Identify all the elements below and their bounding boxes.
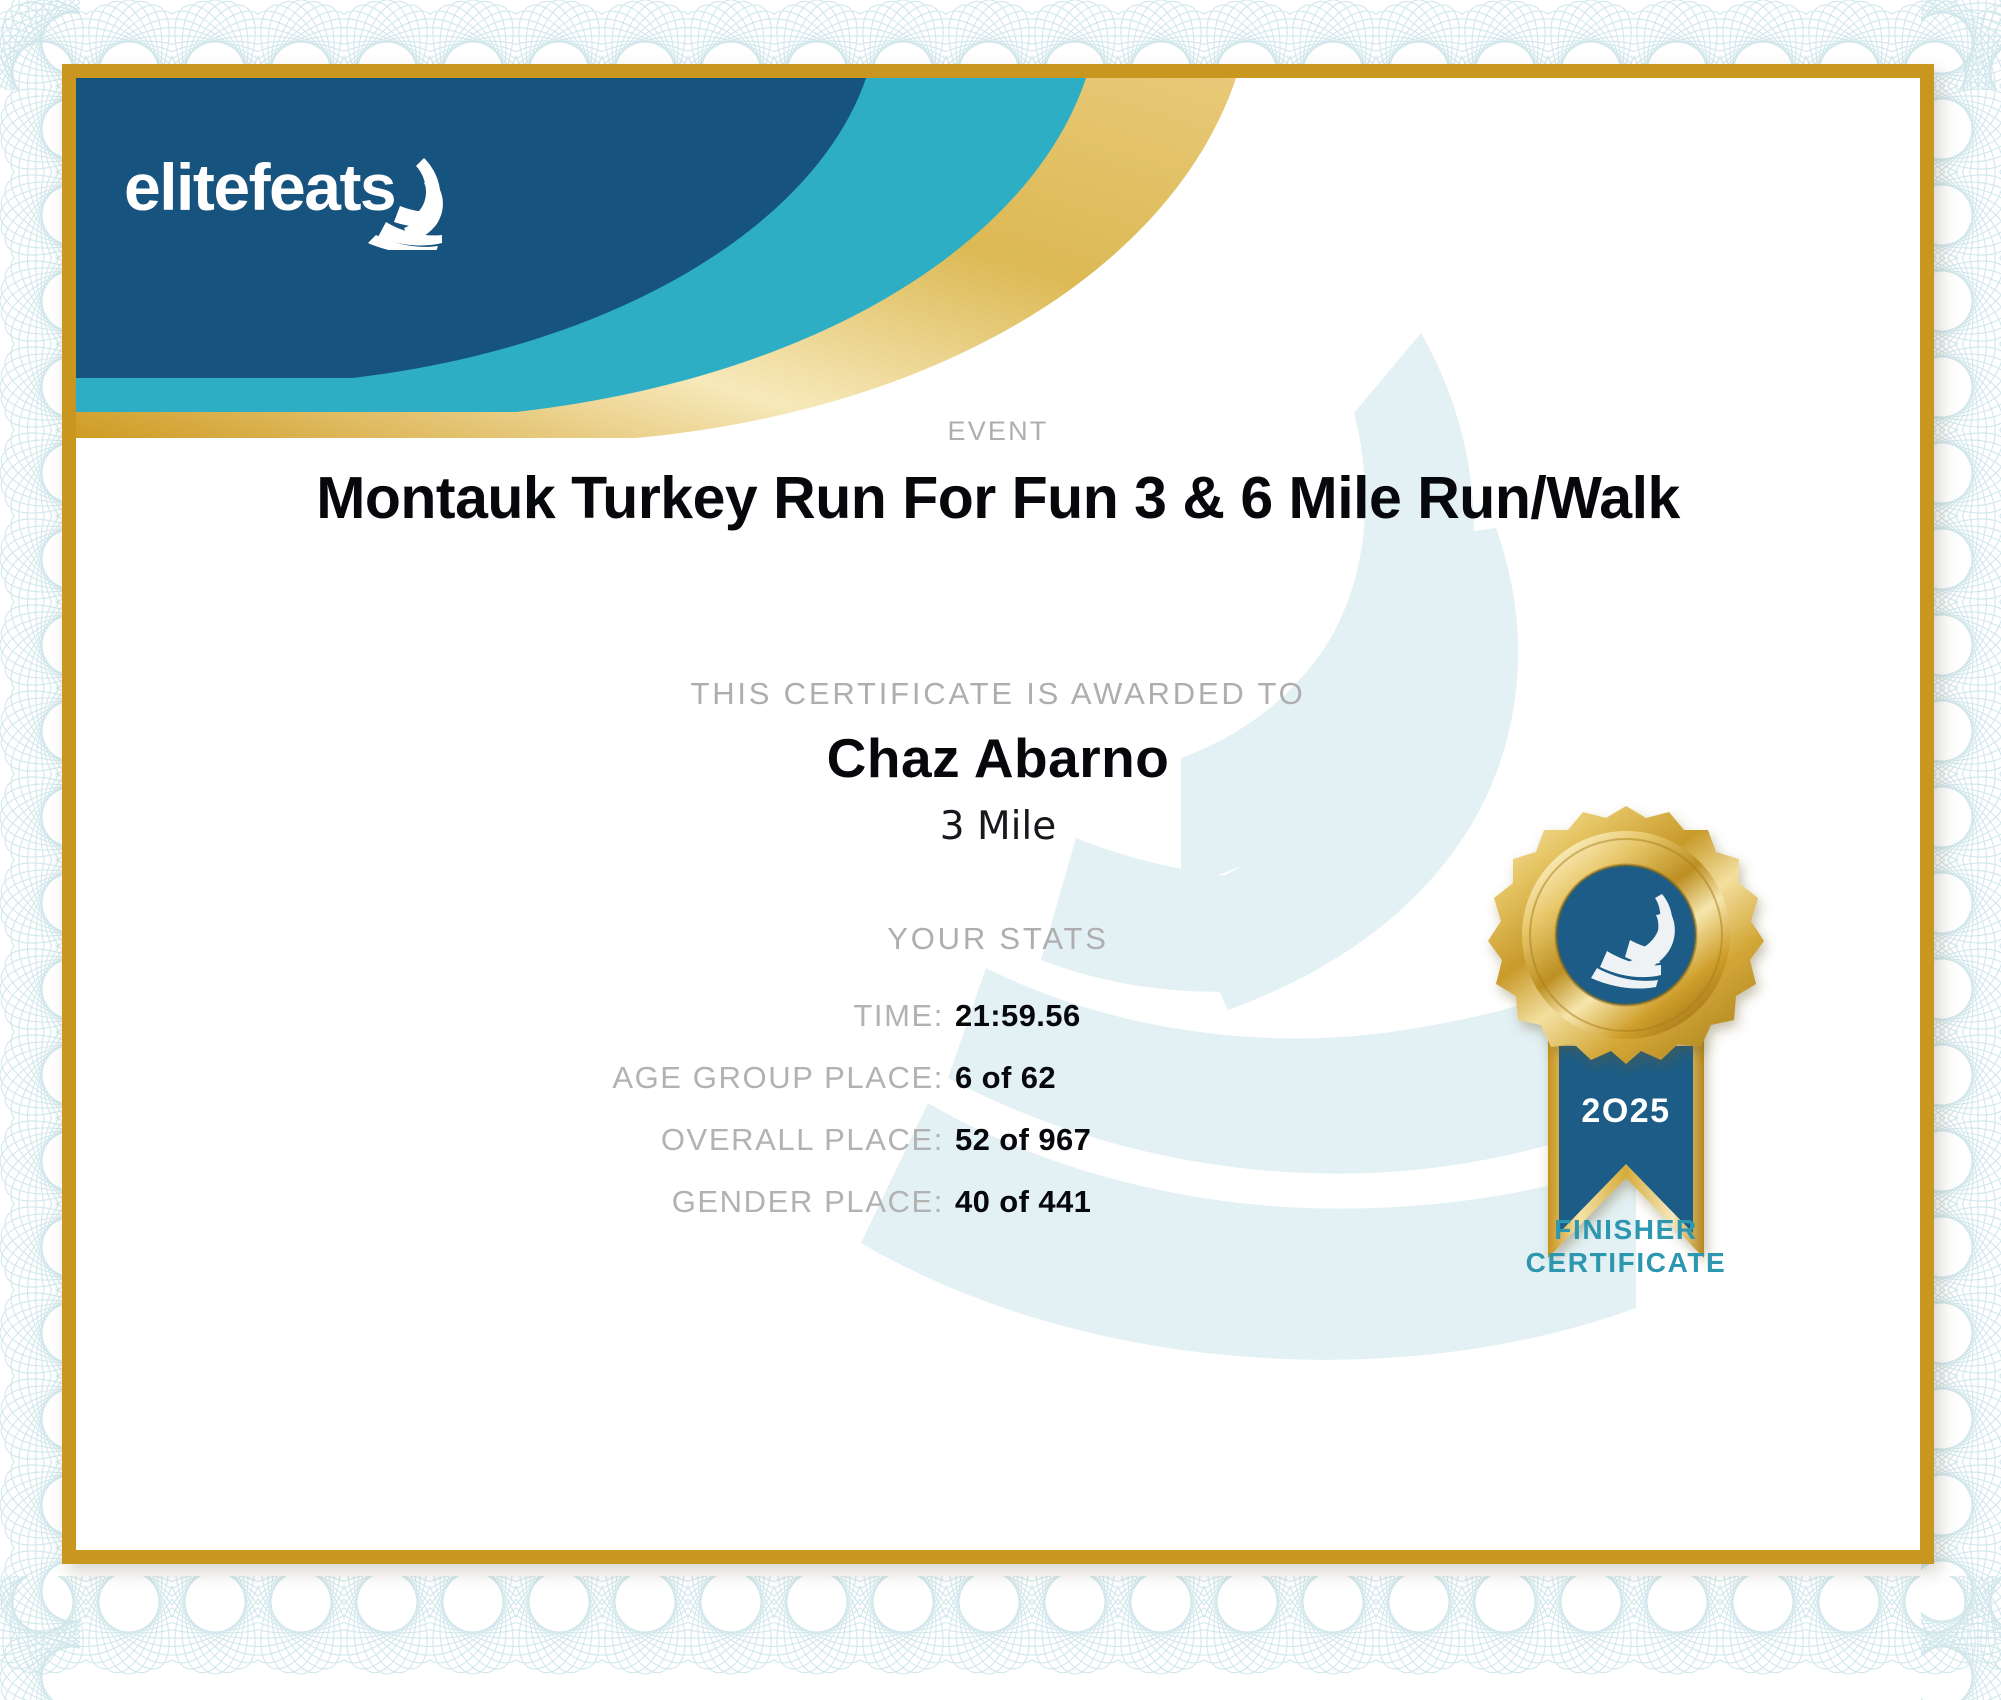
stat-value-overall-place: 52 of 967	[955, 1122, 1091, 1158]
recipient-name: Chaz Abarno	[76, 726, 1920, 790]
certificate-frame: elitefeats EVENT Montauk Turkey Run For …	[62, 64, 1934, 1564]
logo-wordmark: elitefeats	[124, 150, 395, 224]
stat-label-time: TIME:	[76, 998, 944, 1034]
badge-caption-line1: FINISHER	[1456, 1213, 1796, 1246]
event-label: EVENT	[76, 416, 1920, 447]
medal	[1488, 806, 1764, 1064]
stat-value-time: 21:59.56	[955, 998, 1081, 1034]
event-title: Montauk Turkey Run For Fun 3 & 6 Mile Ru…	[76, 464, 1920, 532]
stat-label-gender-place: GENDER PLACE:	[76, 1184, 944, 1220]
certificate-sheet: elitefeats EVENT Montauk Turkey Run For …	[0, 0, 2001, 1700]
stat-value-age-group-place: 6 of 62	[955, 1060, 1056, 1096]
elitefeats-logo: elitefeats	[124, 140, 484, 250]
stat-label-age-group-place: AGE GROUP PLACE:	[76, 1060, 944, 1096]
stat-label-overall-place: OVERALL PLACE:	[76, 1122, 944, 1158]
header-swoosh-graphic	[76, 78, 1236, 438]
certificate-body: elitefeats EVENT Montauk Turkey Run For …	[76, 78, 1920, 1550]
badge-caption-line2: CERTIFICATE	[1456, 1246, 1796, 1279]
stat-value-gender-place: 40 of 441	[955, 1184, 1091, 1220]
badge-caption: FINISHER CERTIFICATE	[1456, 1213, 1796, 1279]
badge-year: 2O25	[1581, 1092, 1670, 1130]
awarded-to-label: THIS CERTIFICATE IS AWARDED TO	[76, 676, 1920, 712]
